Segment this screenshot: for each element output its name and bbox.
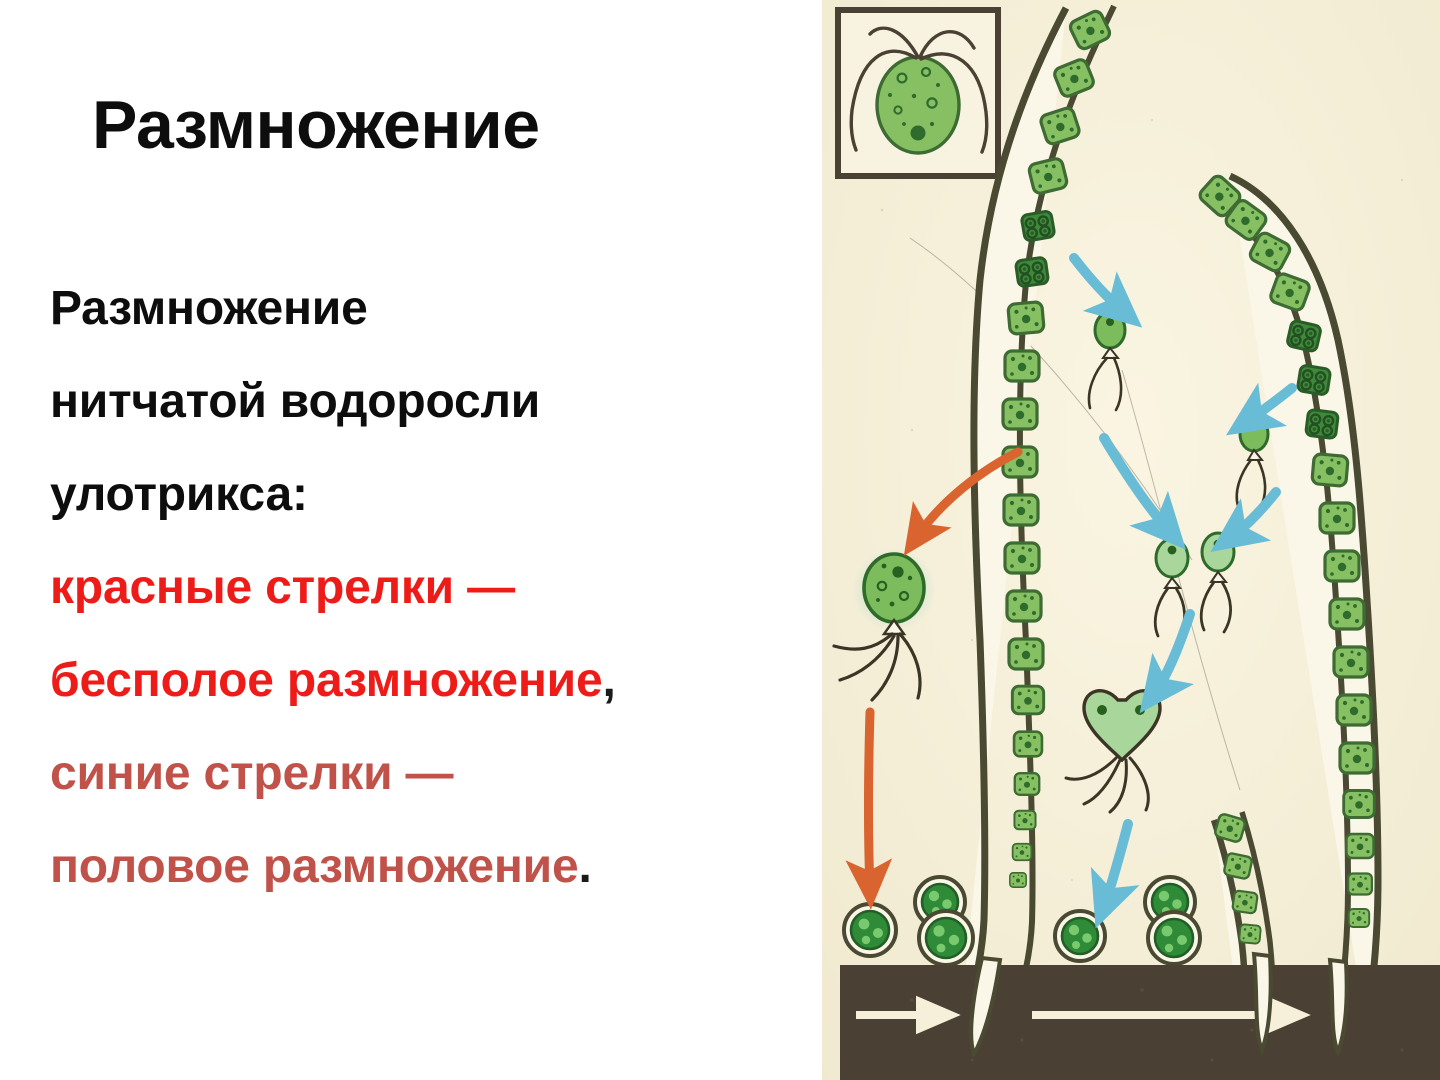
body-line-7-text: половое размножение: [50, 840, 578, 893]
spore-3: [919, 911, 973, 965]
body-line-7: половое размножение.: [50, 820, 820, 913]
body-line-4: красные стрелки —: [50, 541, 820, 634]
inset-zoospore-box: [838, 10, 998, 176]
body-line-5: бесполое размножение,: [50, 634, 820, 727]
text-column: Размножение Размножение нитчатой водорос…: [0, 0, 822, 1080]
body-line-6: синие стрелки —: [50, 727, 820, 820]
body-line-1: Размножение: [50, 262, 820, 355]
substrate-band: [840, 954, 1440, 1080]
spore-4: [1055, 911, 1105, 961]
body-line-3: улотрикса:: [50, 448, 820, 541]
spore-1: [844, 904, 896, 956]
ulothrix-lifecycle-illustration: [822, 0, 1440, 1080]
body-line-7-punct: .: [578, 840, 591, 893]
red-arrow-settle: [869, 712, 871, 888]
spore-6: [1148, 912, 1200, 964]
body-line-5-punct: ,: [602, 654, 615, 707]
body-line-5-text: бесполое размножение: [50, 654, 602, 707]
body-text-block: Размножение нитчатой водоросли улотрикса…: [50, 262, 820, 913]
page-title: Размножение: [92, 86, 540, 164]
slide-root: Размножение Размножение нитчатой водорос…: [0, 0, 1440, 1080]
body-line-2: нитчатой водоросли: [50, 355, 820, 448]
